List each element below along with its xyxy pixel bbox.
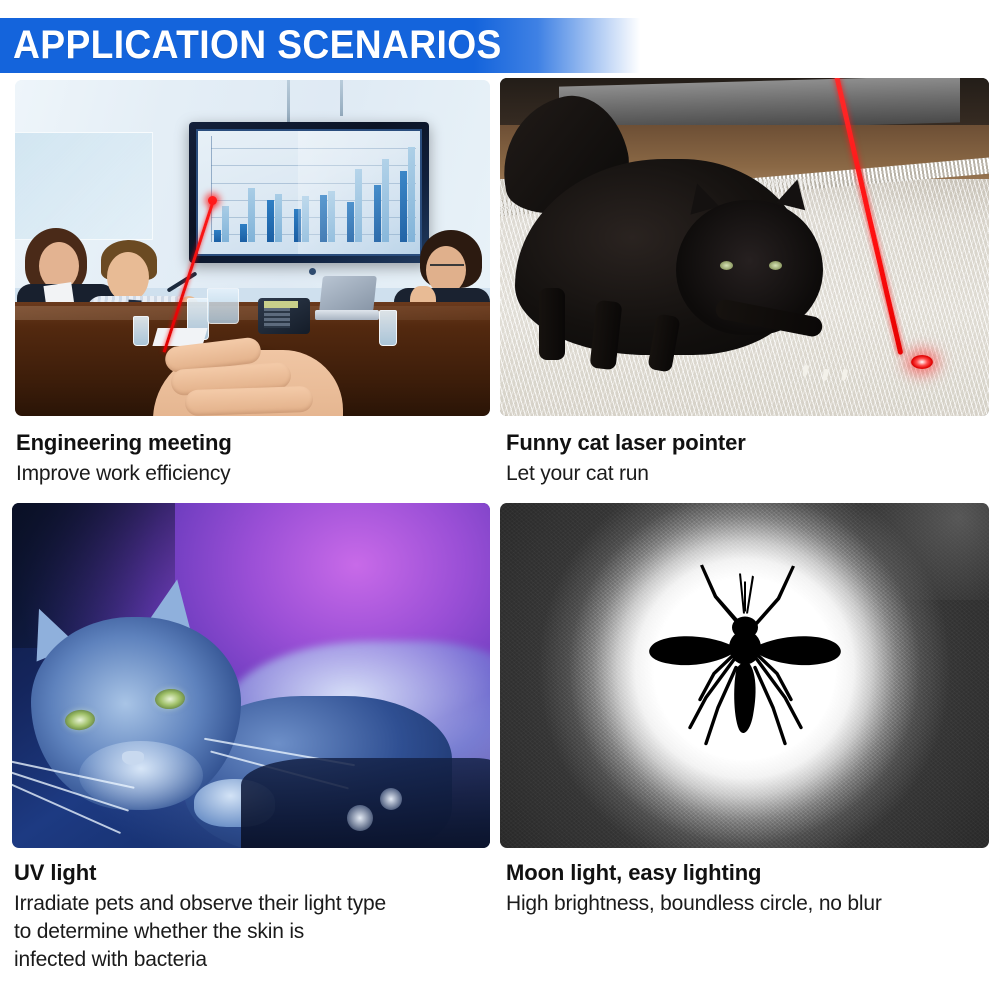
denim-fabric <box>241 758 490 848</box>
laptop <box>315 276 377 326</box>
laptop-keyboard <box>315 310 379 320</box>
caption-title: Moon light, easy lighting <box>506 860 991 887</box>
caption-description: Improve work efficiency <box>16 460 486 488</box>
caption-title: Engineering meeting <box>16 430 486 457</box>
caption-description: Let your cat run <box>506 460 991 488</box>
tv-screen-bar-chart <box>196 129 422 256</box>
application-scenarios-infographic: APPLICATION SCENARIOS <box>0 0 1001 1001</box>
bokeh-light <box>380 788 402 810</box>
laptop-screen <box>319 276 377 312</box>
ceiling-rod <box>340 80 343 116</box>
glass-partition <box>15 132 153 240</box>
eyeglasses <box>430 264 464 270</box>
photo-funny-cat-laser-pointer <box>500 78 989 416</box>
chart-y-axis <box>211 136 212 242</box>
cat-hind-leg <box>539 288 565 360</box>
page-title: APPLICATION SCENARIOS <box>0 23 502 68</box>
water-glass <box>379 310 397 346</box>
wall-mounted-tv <box>189 122 429 263</box>
cat-eye <box>769 261 782 270</box>
caption-description: Irradiate pets and observe their light t… <box>14 890 494 974</box>
table-reflection <box>15 306 490 320</box>
corner-shadow <box>842 503 989 600</box>
caption-engineering-meeting: Engineering meeting Improve work efficie… <box>16 430 486 488</box>
photo-engineering-meeting <box>15 80 490 416</box>
uv-cat-scene <box>12 503 490 848</box>
laser-dot-on-rug <box>911 355 933 369</box>
water-pitcher <box>207 288 239 324</box>
photo-moon-light <box>500 503 989 848</box>
conference-phone <box>258 298 310 334</box>
caption-moon-light: Moon light, easy lighting High brightnes… <box>506 860 991 918</box>
photo-uv-light <box>12 503 490 848</box>
cat-laser-scene <box>500 78 989 416</box>
head <box>426 246 466 294</box>
finger <box>185 386 314 416</box>
caption-title: Funny cat laser pointer <box>506 430 991 457</box>
water-glass <box>133 316 149 346</box>
chart-bars <box>214 143 416 241</box>
phone-keypad <box>264 308 290 328</box>
meeting-room-scene <box>15 80 490 416</box>
header-banner: APPLICATION SCENARIOS <box>0 18 640 73</box>
tv-indicator-light <box>309 268 316 275</box>
bokeh-light <box>347 805 373 831</box>
phone-display <box>264 301 298 308</box>
head <box>107 252 149 302</box>
mosquito-silhouette-icon <box>640 548 850 783</box>
caption-title: UV light <box>14 860 494 887</box>
ceiling-rod <box>287 80 290 124</box>
moon-light-scene <box>500 503 989 848</box>
caption-uv-light: UV light Irradiate pets and observe thei… <box>14 860 494 974</box>
caption-description: High brightness, boundless circle, no bl… <box>506 890 991 918</box>
caption-funny-cat-laser-pointer: Funny cat laser pointer Let your cat run <box>506 430 991 488</box>
cat-eye <box>720 261 733 270</box>
